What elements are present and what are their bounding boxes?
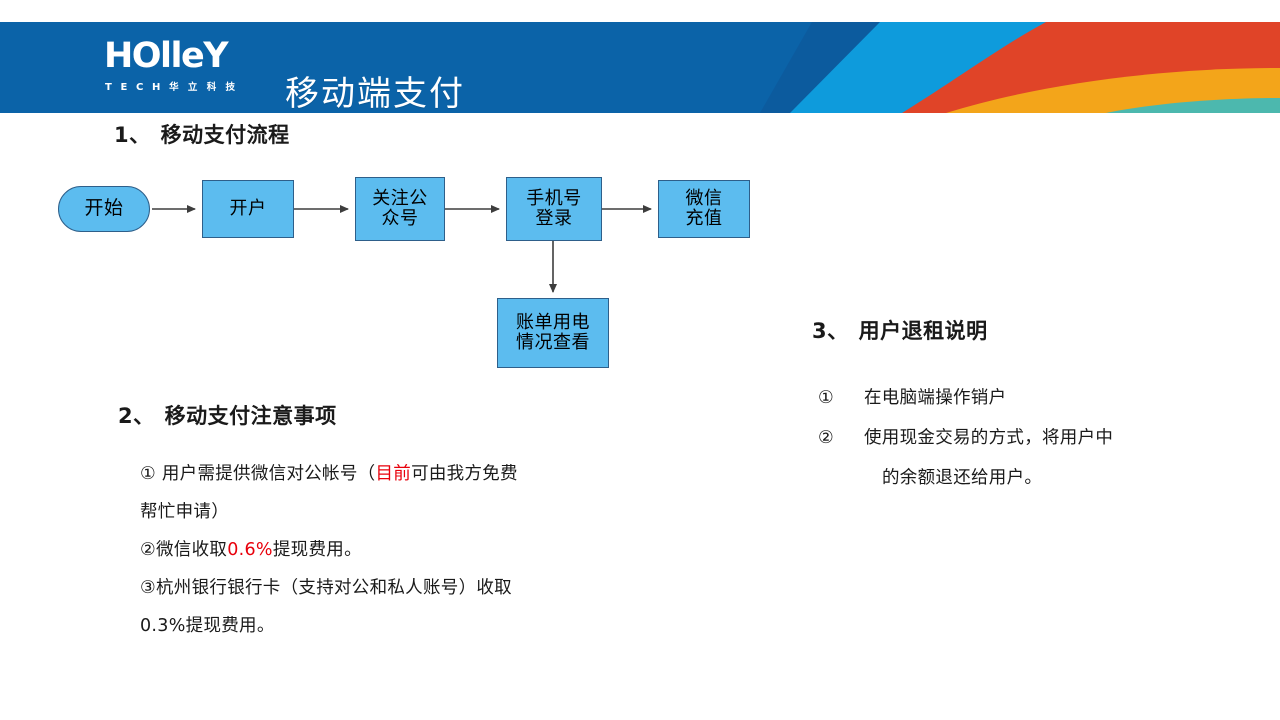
section-2-title: 移动支付注意事项: [165, 404, 337, 428]
section-2-item-1-part-b: 可由我方免费: [411, 464, 518, 484]
section-2-item-3-cont: 0.3%提现费用。: [140, 607, 660, 645]
flow-node-follow-official-account[interactable]: 关注公 众号: [355, 177, 445, 241]
flow-node-bill-usage-view[interactable]: 账单用电 情况查看: [497, 298, 609, 368]
page-title: 移动端支付: [285, 66, 465, 113]
section-3-item-2-line1: 使用现金交易的方式，将用户中: [864, 428, 1113, 448]
section-2-item-3: ③杭州银行银行卡（支持对公和私人账号）收取: [140, 569, 660, 607]
flow-node-start[interactable]: 开始: [58, 186, 150, 232]
section-1-heading: 1、移动支付流程: [114, 119, 290, 149]
section-3-item-2-line2: 的余额退还给用户。: [864, 458, 1238, 498]
section-3-item-1-text: 在电脑端操作销户: [864, 378, 1238, 418]
section-3-list-item: ① 在电脑端操作销户: [818, 378, 1238, 418]
section-2-item-2-highlight: 0.6%: [227, 540, 273, 560]
section-3-number: 3、: [812, 319, 849, 343]
logo-subtitle: T E C H 华 立 科 技: [105, 79, 271, 93]
flow-node-follow-line1: 关注公: [372, 189, 428, 209]
section-1-number: 1、: [114, 123, 151, 147]
section-2-item-2: ②微信收取0.6%提现费用。: [140, 531, 660, 569]
flow-node-login-line2: 登录: [526, 209, 582, 229]
section-3-heading: 3、用户退租说明: [812, 315, 988, 345]
flow-node-open-account[interactable]: 开户: [202, 180, 294, 238]
section-2-item-1-part-a: ① 用户需提供微信对公帐号（: [140, 464, 375, 484]
section-3-list-item: ② 使用现金交易的方式，将用户中 的余额退还给用户。: [818, 418, 1238, 498]
header-banner: HOlleY T E C H 华 立 科 技 移动端支付: [0, 22, 1280, 113]
flow-node-recharge-line2: 充值: [686, 209, 723, 229]
flow-node-bill-line2: 情况查看: [516, 333, 590, 353]
flow-node-phone-login[interactable]: 手机号 登录: [506, 177, 602, 241]
section-3-item-1-marker: ①: [818, 378, 864, 418]
flow-node-start-label: 开始: [84, 198, 123, 219]
holley-logo: HOlleY T E C H 华 立 科 技: [104, 36, 270, 98]
section-3-title: 用户退租说明: [859, 319, 988, 343]
section-2-heading: 2、移动支付注意事项: [118, 400, 337, 430]
section-2-number: 2、: [118, 404, 155, 428]
logo-wordmark: HOlleY: [104, 36, 270, 76]
logo-subtitle-en: T E C H: [105, 82, 163, 93]
section-2-body: ① 用户需提供微信对公帐号（目前可由我方免费 帮忙申请） ②微信收取0.6%提现…: [140, 455, 660, 645]
flow-node-login-line1: 手机号: [526, 189, 582, 209]
section-3-item-2-marker: ②: [818, 418, 864, 458]
section-3-item-2-text: 使用现金交易的方式，将用户中 的余额退还给用户。: [864, 418, 1238, 498]
section-2-item-1: ① 用户需提供微信对公帐号（目前可由我方免费: [140, 455, 660, 493]
flow-node-bill-line1: 账单用电: [516, 313, 590, 333]
section-3-body: ① 在电脑端操作销户 ② 使用现金交易的方式，将用户中 的余额退还给用户。: [818, 378, 1238, 498]
logo-subtitle-cn: 华 立 科 技: [169, 82, 238, 93]
section-2-item-1-highlight: 目前: [375, 464, 411, 484]
section-2-item-2-part-a: ②微信收取: [140, 540, 227, 560]
section-1-title: 移动支付流程: [161, 123, 290, 147]
section-2-item-2-part-b: 提现费用。: [273, 540, 362, 560]
flow-node-follow-line2: 众号: [372, 209, 428, 229]
flow-node-recharge-line1: 微信: [686, 189, 723, 209]
flow-node-open-account-label: 开户: [230, 199, 267, 219]
section-2-item-1-cont: 帮忙申请）: [140, 493, 660, 531]
flow-node-wechat-recharge[interactable]: 微信 充值: [658, 180, 750, 238]
